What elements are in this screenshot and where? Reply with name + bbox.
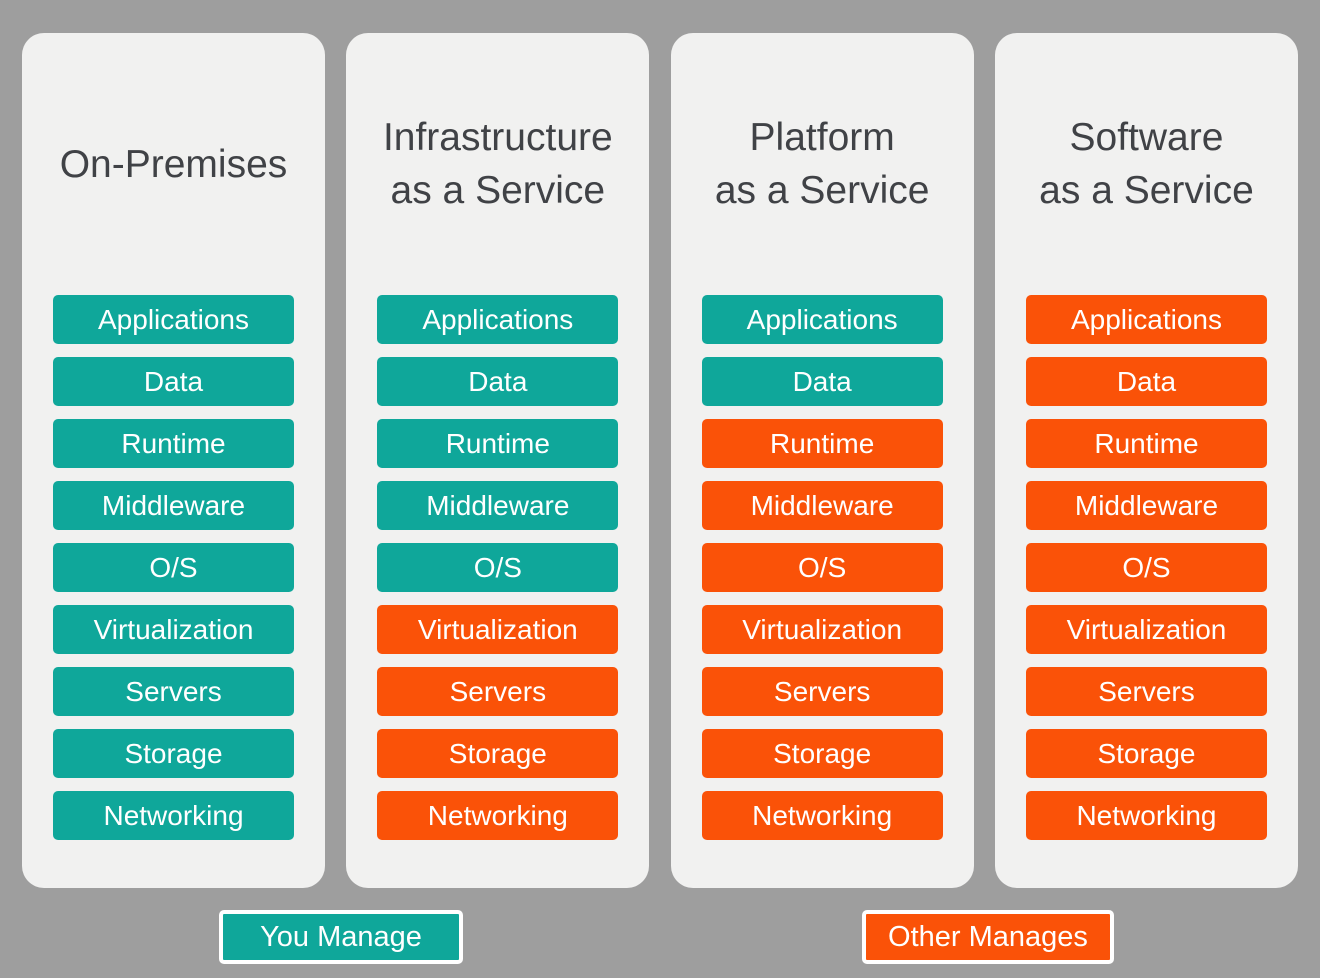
- layer-servers[interactable]: Servers: [702, 667, 943, 716]
- layer-networking[interactable]: Networking: [377, 791, 618, 840]
- layer-virtualization[interactable]: Virtualization: [1026, 605, 1267, 654]
- layer-runtime[interactable]: Runtime: [53, 419, 294, 468]
- layer-os[interactable]: O/S: [702, 543, 943, 592]
- layer-applications[interactable]: Applications: [1026, 295, 1267, 344]
- layer-virtualization[interactable]: Virtualization: [702, 605, 943, 654]
- layer-data[interactable]: Data: [377, 357, 618, 406]
- card-title-infrastructure-as-a-service: Infrastructure as a Service: [346, 33, 649, 295]
- layer-storage[interactable]: Storage: [702, 729, 943, 778]
- cloud-service-models-diagram: On-Premises Applications Data Runtime Mi…: [0, 0, 1320, 978]
- layer-stack-infrastructure-as-a-service: Applications Data Runtime Middleware O/S…: [346, 295, 649, 840]
- layer-storage[interactable]: Storage: [53, 729, 294, 778]
- layer-runtime[interactable]: Runtime: [702, 419, 943, 468]
- legend-other-manages[interactable]: Other Manages: [862, 910, 1114, 964]
- layer-data[interactable]: Data: [53, 357, 294, 406]
- service-model-card-on-premises[interactable]: On-Premises Applications Data Runtime Mi…: [22, 33, 325, 888]
- layer-applications[interactable]: Applications: [377, 295, 618, 344]
- layer-middleware[interactable]: Middleware: [377, 481, 618, 530]
- layer-os[interactable]: O/S: [1026, 543, 1267, 592]
- layer-virtualization[interactable]: Virtualization: [53, 605, 294, 654]
- layer-networking[interactable]: Networking: [1026, 791, 1267, 840]
- service-model-cards-row: On-Premises Applications Data Runtime Mi…: [22, 33, 1298, 888]
- layer-os[interactable]: O/S: [377, 543, 618, 592]
- card-title-software-as-a-service: Software as a Service: [995, 33, 1298, 295]
- layer-runtime[interactable]: Runtime: [377, 419, 618, 468]
- layer-runtime[interactable]: Runtime: [1026, 419, 1267, 468]
- card-title-on-premises: On-Premises: [22, 33, 325, 295]
- layer-applications[interactable]: Applications: [53, 295, 294, 344]
- layer-applications[interactable]: Applications: [702, 295, 943, 344]
- layer-servers[interactable]: Servers: [1026, 667, 1267, 716]
- layer-middleware[interactable]: Middleware: [53, 481, 294, 530]
- layer-stack-on-premises: Applications Data Runtime Middleware O/S…: [22, 295, 325, 840]
- layer-virtualization[interactable]: Virtualization: [377, 605, 618, 654]
- layer-networking[interactable]: Networking: [53, 791, 294, 840]
- layer-middleware[interactable]: Middleware: [1026, 481, 1267, 530]
- layer-data[interactable]: Data: [1026, 357, 1267, 406]
- service-model-card-software-as-a-service[interactable]: Software as a Service Applications Data …: [995, 33, 1298, 888]
- layer-networking[interactable]: Networking: [702, 791, 943, 840]
- service-model-card-infrastructure-as-a-service[interactable]: Infrastructure as a Service Applications…: [346, 33, 649, 888]
- legend: You Manage Other Manages: [0, 908, 1320, 970]
- layer-stack-software-as-a-service: Applications Data Runtime Middleware O/S…: [995, 295, 1298, 840]
- layer-storage[interactable]: Storage: [1026, 729, 1267, 778]
- layer-servers[interactable]: Servers: [53, 667, 294, 716]
- layer-data[interactable]: Data: [702, 357, 943, 406]
- layer-stack-platform-as-a-service: Applications Data Runtime Middleware O/S…: [671, 295, 974, 840]
- layer-middleware[interactable]: Middleware: [702, 481, 943, 530]
- layer-storage[interactable]: Storage: [377, 729, 618, 778]
- service-model-card-platform-as-a-service[interactable]: Platform as a Service Applications Data …: [671, 33, 974, 888]
- layer-servers[interactable]: Servers: [377, 667, 618, 716]
- layer-os[interactable]: O/S: [53, 543, 294, 592]
- card-title-platform-as-a-service: Platform as a Service: [671, 33, 974, 295]
- legend-you-manage[interactable]: You Manage: [219, 910, 463, 964]
